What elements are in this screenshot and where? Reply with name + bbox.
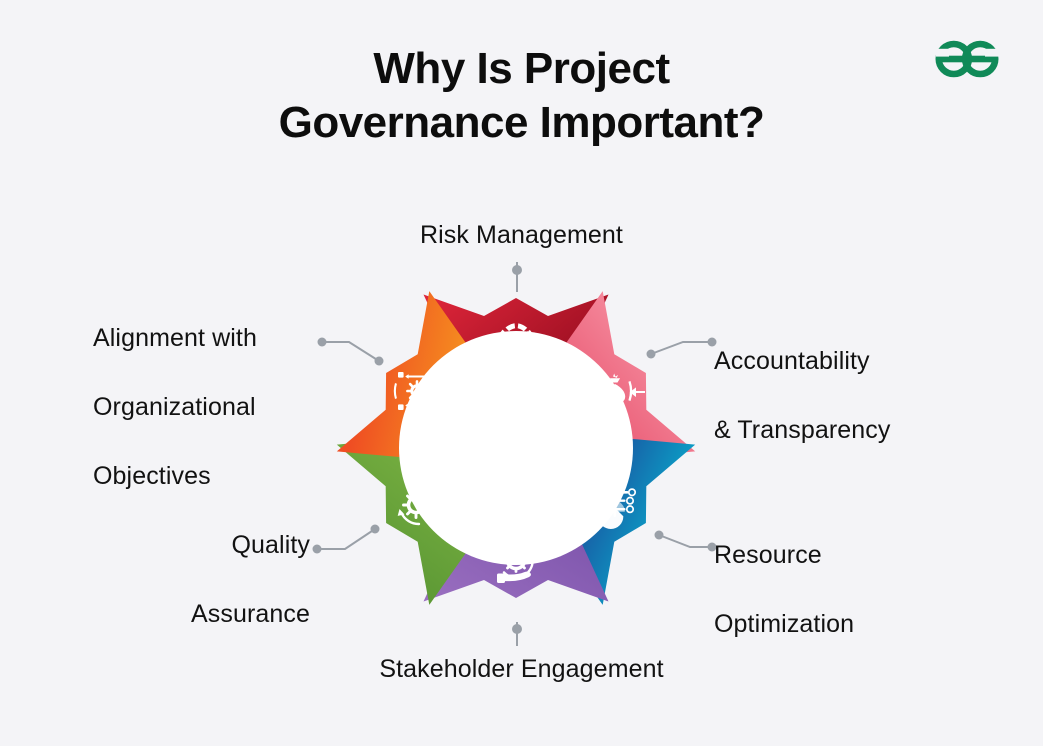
wheel-label-quality-line-1: Quality — [231, 531, 310, 559]
wheel-label-resource-line-1: Resource — [714, 541, 822, 569]
wheel-label-alignment-line-3: Objectives — [93, 462, 211, 490]
page-title: Why Is Project Governance Important? — [0, 42, 1043, 149]
wheel-label-quality-assurance: Quality Assurance — [10, 493, 310, 631]
wheel-label-alignment-line-1: Alignment with — [93, 324, 257, 352]
process-wheel: $ — [330, 262, 702, 634]
wheel-center-hub — [399, 331, 633, 565]
wheel-label-quality-line-2: Assurance — [191, 600, 310, 628]
wheel-label-accountability-line-2: & Transparency — [714, 416, 891, 444]
page-title-line-2: Governance Important? — [0, 96, 1043, 150]
geeksforgeeks-logo[interactable] — [931, 38, 1003, 80]
page-title-line-1: Why Is Project — [0, 42, 1043, 96]
wheel-label-resource-optimization: Resource Optimization — [714, 503, 1014, 641]
wheel-label-stakeholder-engagement: Stakeholder Engagement — [0, 652, 1043, 687]
wheel-label-risk-management: Risk Management — [0, 218, 1043, 253]
wheel-label-accountability-line-1: Accountability — [714, 347, 870, 375]
infographic-canvas: Why Is Project Governance Important? — [0, 0, 1043, 746]
wheel-label-alignment-line-2: Organizational — [93, 393, 256, 421]
wheel-label-resource-line-2: Optimization — [714, 610, 854, 638]
wheel-label-accountability-transparency: Accountability & Transparency — [714, 309, 1014, 447]
wheel-label-alignment-organizational-objectives: Alignment with Organizational Objectives — [93, 286, 353, 493]
